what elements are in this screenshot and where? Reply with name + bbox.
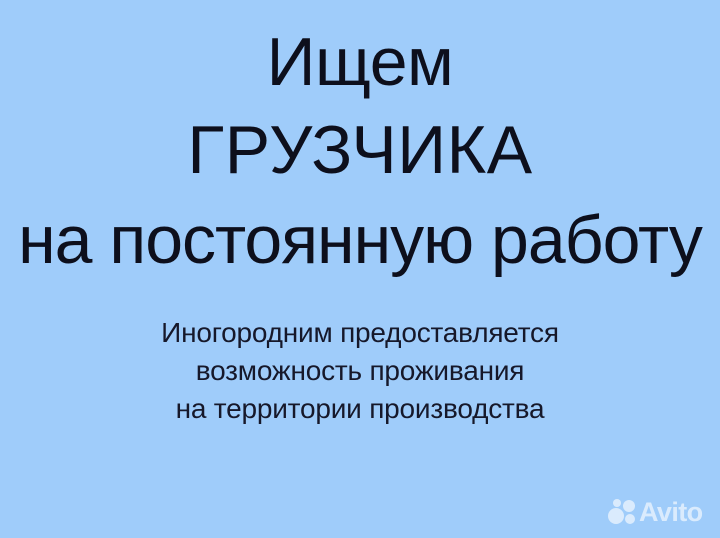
avito-watermark: Avito	[608, 494, 708, 530]
avito-dot-large-bottom-left	[608, 508, 624, 524]
subtext-line-3: на территории производства	[0, 390, 720, 428]
avito-dot-medium-top-right	[623, 500, 635, 512]
headline-line-1: Ищем	[0, 28, 720, 96]
avito-dot-small-top-left	[613, 499, 621, 507]
avito-dot-small-bottom-right	[625, 514, 635, 524]
avito-dots-icon	[608, 499, 636, 525]
subtext-line-2: возможность проживания	[0, 352, 720, 390]
headline-line-3: на постоянную работу	[0, 206, 720, 274]
headline-line-2: ГРУЗЧИКА	[0, 116, 720, 184]
subtext-line-1: Иногородним предоставляется	[0, 314, 720, 352]
job-advert-poster: Ищем ГРУЗЧИКА на постоянную работу Иного…	[0, 0, 720, 538]
avito-wordmark: Avito	[639, 499, 703, 526]
subtext-block: Иногородним предоставляется возможность …	[0, 314, 720, 428]
